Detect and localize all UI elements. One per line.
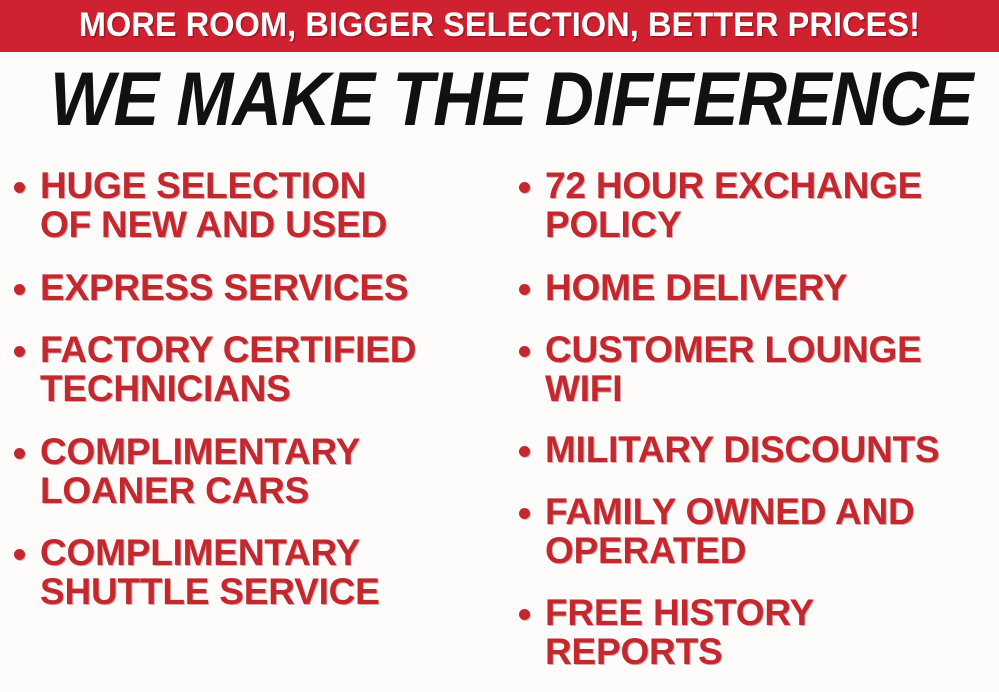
feature-item: FACTORY CERTIFIED TECHNICIANS [14, 330, 500, 408]
feature-label: MILITARY DISCOUNTS [545, 430, 999, 469]
feature-item: FREE HISTORY REPORTS [519, 593, 999, 671]
feature-label: FAMILY OWNED AND OPERATED [545, 492, 999, 570]
bullet-dot-icon [519, 508, 530, 519]
feature-label: HUGE SELECTION OF NEW AND USED [40, 166, 500, 244]
bullet-dot-icon [519, 609, 530, 620]
feature-label: CUSTOMER LOUNGE WIFI [545, 330, 999, 408]
bullet-dot-icon [519, 182, 530, 193]
feature-item: EXPRESS SERVICES [14, 268, 500, 307]
feature-label: COMPLIMENTARY LOANER CARS [40, 432, 500, 510]
bullet-dot-icon [14, 182, 25, 193]
feature-item: FAMILY OWNED AND OPERATED [519, 492, 999, 570]
feature-item: COMPLIMENTARY LOANER CARS [14, 432, 500, 510]
bullet-dot-icon [14, 284, 25, 295]
headline: WE MAKE THE DIFFERENCE [50, 62, 949, 138]
feature-label: FREE HISTORY REPORTS [545, 593, 999, 671]
bullet-dot-icon [519, 446, 530, 457]
feature-item: 72 HOUR EXCHANGE POLICY [519, 166, 999, 244]
feature-item: COMPLIMENTARY SHUTTLE SERVICE [14, 533, 500, 611]
features-column-left: HUGE SELECTION OF NEW AND USED EXPRESS S… [14, 158, 500, 692]
feature-label: FACTORY CERTIFIED TECHNICIANS [40, 330, 500, 408]
feature-label: HOME DELIVERY [545, 268, 999, 307]
features-columns: HUGE SELECTION OF NEW AND USED EXPRESS S… [0, 158, 999, 692]
feature-item: HUGE SELECTION OF NEW AND USED [14, 166, 500, 244]
promo-banner-text: MORE ROOM, BIGGER SELECTION, BETTER PRIC… [79, 8, 920, 44]
feature-label: COMPLIMENTARY SHUTTLE SERVICE [40, 533, 500, 611]
promo-banner: MORE ROOM, BIGGER SELECTION, BETTER PRIC… [0, 0, 999, 52]
bullet-dot-icon [519, 346, 530, 357]
features-column-right: 72 HOUR EXCHANGE POLICY HOME DELIVERY CU… [519, 158, 999, 692]
bullet-dot-icon [14, 549, 25, 560]
feature-label: EXPRESS SERVICES [40, 268, 500, 307]
bullet-dot-icon [14, 448, 25, 459]
bullet-dot-icon [14, 346, 25, 357]
bullet-dot-icon [519, 284, 530, 295]
advertisement-banner: MORE ROOM, BIGGER SELECTION, BETTER PRIC… [0, 0, 999, 692]
feature-item: HOME DELIVERY [519, 268, 999, 307]
feature-label: 72 HOUR EXCHANGE POLICY [545, 166, 999, 244]
feature-item: MILITARY DISCOUNTS [519, 430, 999, 469]
feature-item: CUSTOMER LOUNGE WIFI [519, 330, 999, 408]
